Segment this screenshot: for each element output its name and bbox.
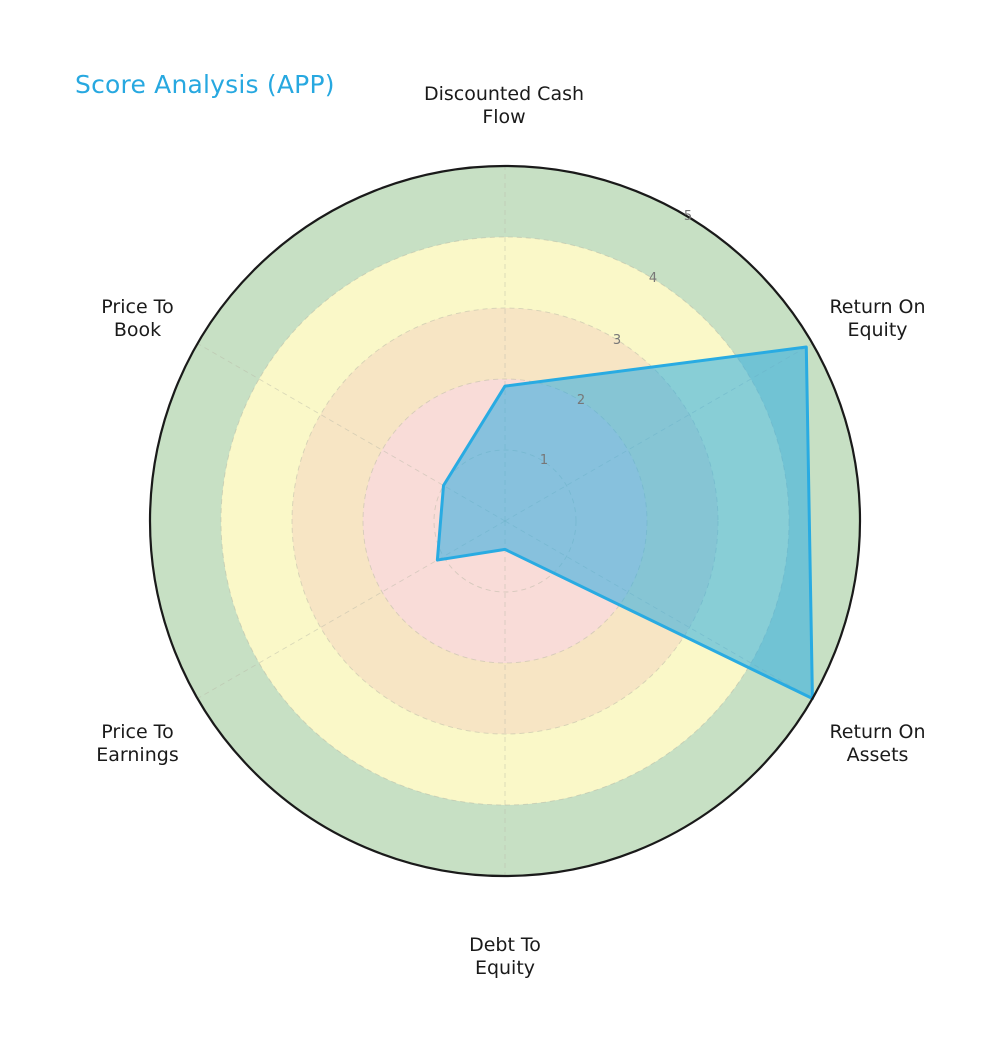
radar-chart: Score Analysis (APP) 12345 Discounted Ca… — [0, 0, 1000, 1054]
polar-plot-area — [0, 0, 1000, 1054]
radial-tick-label-1: 1 — [532, 453, 556, 468]
axis-label-roe: Return On Equity — [800, 296, 955, 342]
radial-tick-label-5: 5 — [676, 209, 700, 224]
radial-tick-label-4: 4 — [641, 271, 665, 286]
axis-label-dte: Debt To Equity — [425, 934, 585, 980]
axis-label-ptb: Price To Book — [55, 296, 220, 342]
axis-label-roa: Return On Assets — [800, 721, 955, 767]
axis-label-dcf: Discounted Cash Flow — [404, 83, 604, 129]
radial-tick-label-2: 2 — [569, 393, 593, 408]
page-title: Score Analysis (APP) — [75, 70, 335, 99]
radial-tick-label-3: 3 — [605, 333, 629, 348]
axis-label-pte: Price To Earnings — [55, 721, 220, 767]
